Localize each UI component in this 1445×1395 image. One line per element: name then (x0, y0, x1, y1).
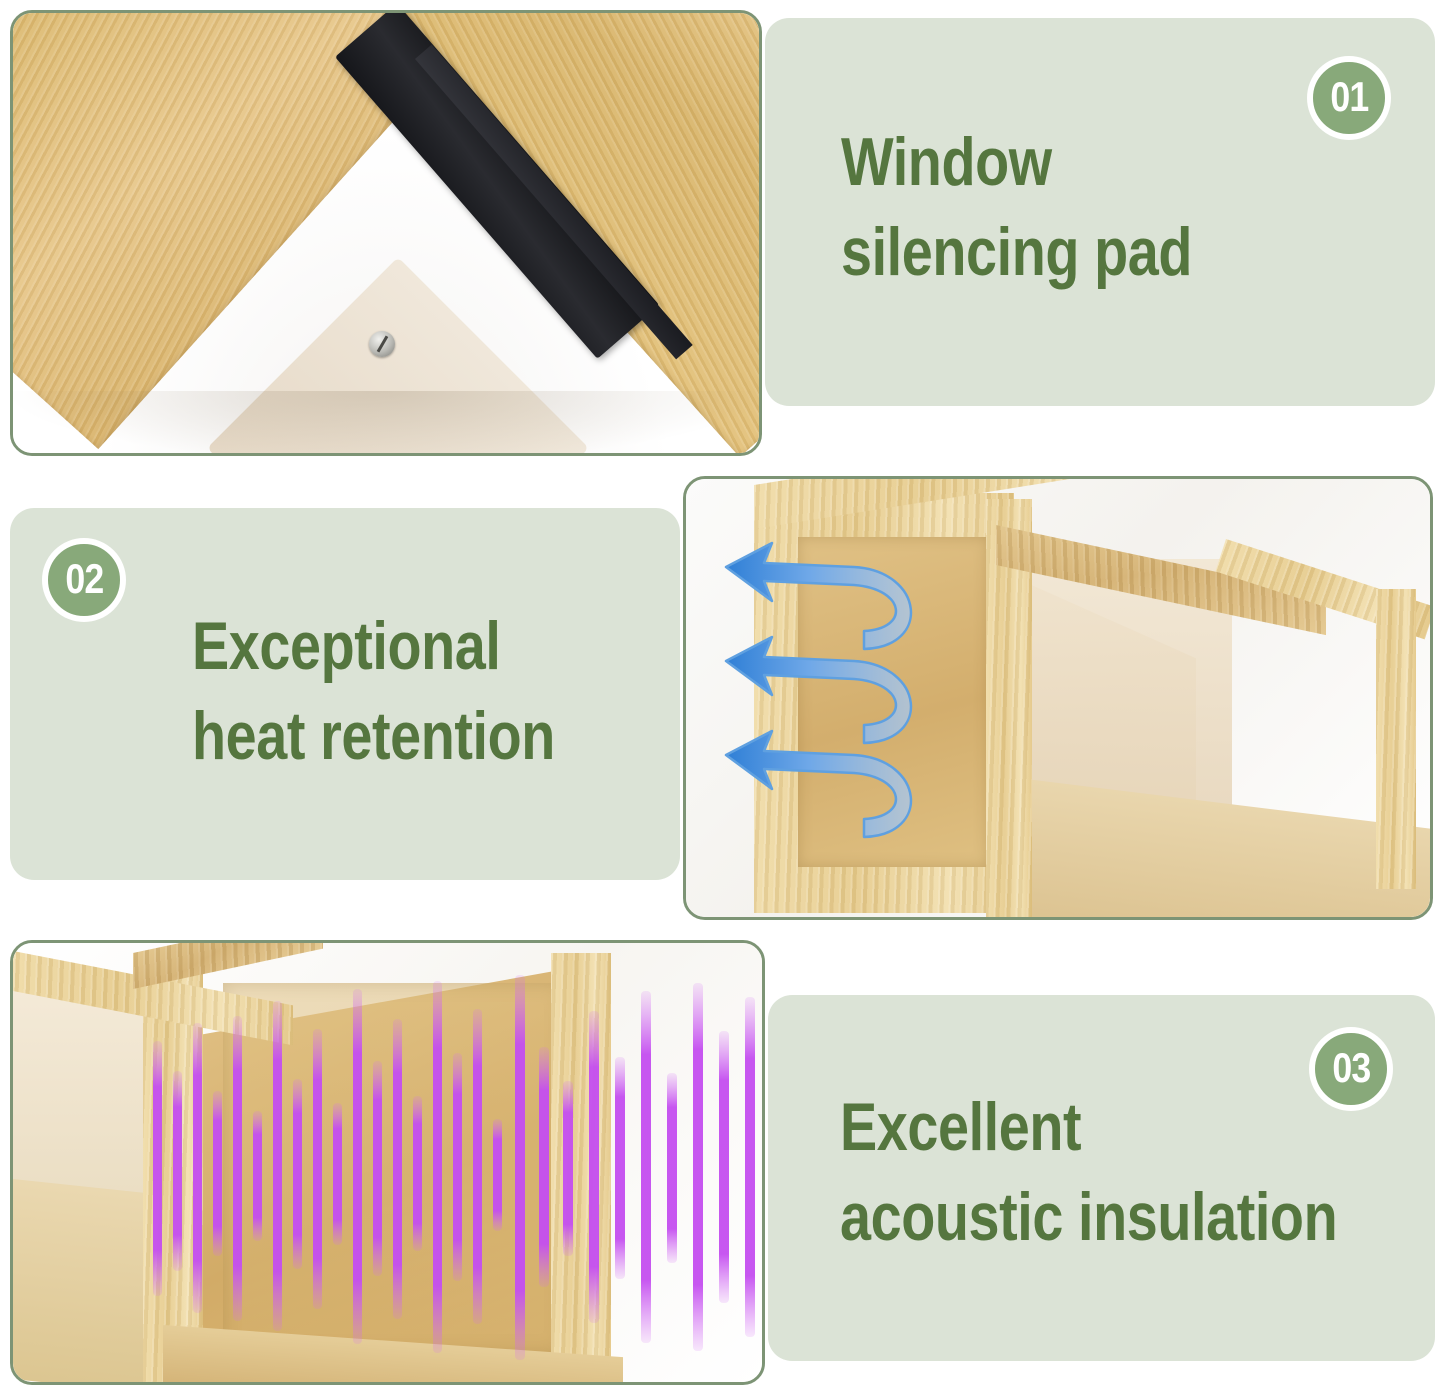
airflow-arrows-icon (714, 527, 1064, 877)
feature-headline-1: Window silencing pad (841, 118, 1445, 298)
feature-badge-2: 02 (42, 538, 126, 622)
photo-2-content (686, 479, 1430, 917)
feature-photo-1 (10, 10, 762, 456)
soundwave-icon (153, 961, 762, 1371)
photo-1-content (13, 13, 759, 453)
feature-headline-3: Excellent acoustic insulation (840, 1083, 1445, 1263)
feature-card-3: 03 Excellent acoustic insulation (768, 995, 1435, 1361)
house-right-edge (1376, 589, 1416, 889)
feature-card-1: 01 Window silencing pad (765, 18, 1435, 406)
screw-icon (369, 331, 395, 357)
feature-badge-2-number: 02 (65, 555, 103, 603)
feature-photo-2 (683, 476, 1433, 920)
feature-badge-1-number: 01 (1330, 73, 1368, 121)
photo-1-shadow (13, 391, 759, 453)
feature-photo-3 (10, 940, 765, 1385)
feature-card-2: 02 Exceptional heat retention (10, 508, 680, 880)
photo-3-content (13, 943, 762, 1382)
